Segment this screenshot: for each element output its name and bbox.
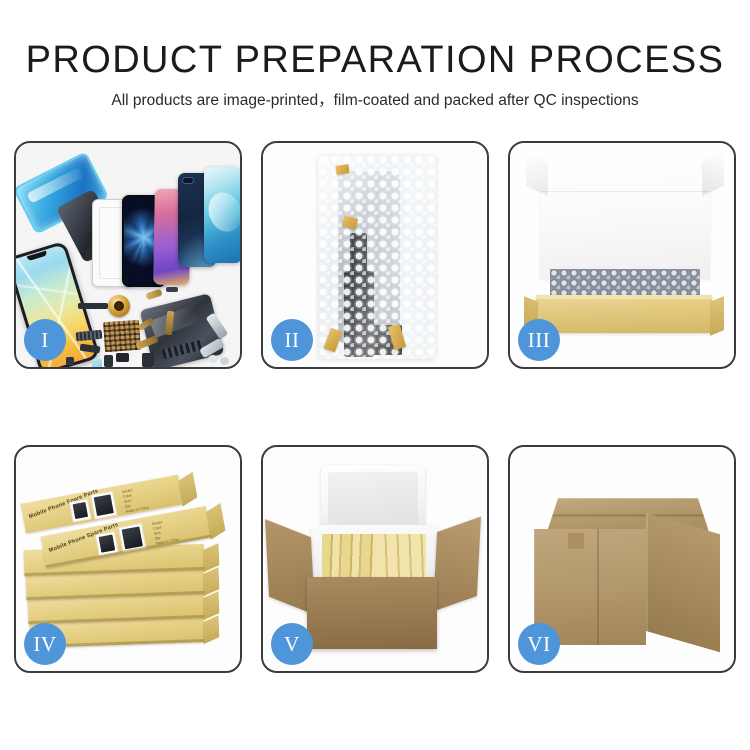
tape-strip bbox=[335, 164, 349, 175]
foam-lid-inner bbox=[328, 472, 418, 524]
box-window-graphic bbox=[69, 499, 92, 523]
step-badge-2: II bbox=[271, 319, 313, 361]
carton-front-panel bbox=[307, 577, 437, 649]
teal-gradient-phone bbox=[204, 167, 240, 263]
chip-grid-part bbox=[103, 320, 141, 352]
process-step-panel-3: III bbox=[508, 141, 736, 369]
spare-part bbox=[116, 353, 129, 362]
white-box-lid bbox=[540, 157, 710, 279]
spare-part bbox=[78, 303, 108, 309]
box-end-right bbox=[710, 296, 724, 336]
foam-cavity bbox=[322, 534, 426, 578]
spare-part bbox=[142, 353, 154, 367]
step-badge-5: V bbox=[271, 623, 313, 665]
lid-crease bbox=[540, 191, 710, 192]
carton-side-face bbox=[646, 513, 720, 652]
carton-tape-patch bbox=[570, 623, 586, 637]
header: PRODUCT PREPARATION PROCESS All products… bbox=[0, 38, 750, 112]
carton-edge-highlight bbox=[646, 513, 648, 631]
carton-tape-patch bbox=[568, 533, 584, 549]
spare-part bbox=[145, 289, 162, 301]
page-subtitle: All products are image-printed，film-coat… bbox=[0, 90, 750, 112]
spare-part bbox=[220, 357, 229, 365]
lid-flap-right bbox=[702, 152, 724, 197]
step-badge-3: III bbox=[518, 319, 560, 361]
spare-part bbox=[104, 355, 113, 367]
foam-box-lid bbox=[321, 465, 425, 529]
camera-module-icon bbox=[182, 177, 194, 184]
process-step-panel-1: I bbox=[14, 141, 242, 369]
page-title: PRODUCT PREPARATION PROCESS bbox=[0, 38, 750, 82]
process-step-panel-4: Mobile Phone Spare Parts Model: Color: S… bbox=[14, 445, 242, 673]
box-window-graphic bbox=[90, 491, 117, 520]
box-side bbox=[203, 615, 220, 644]
step-badge-6: VI bbox=[518, 623, 560, 665]
yellow-inner-box bbox=[536, 295, 712, 333]
open-carton-front bbox=[307, 577, 437, 649]
step-badge-1: I bbox=[24, 319, 66, 361]
process-step-panel-6: VI bbox=[508, 445, 736, 673]
carton-flap-line bbox=[597, 529, 599, 645]
process-step-grid: I bbox=[14, 141, 736, 675]
process-step-panel-5: V bbox=[261, 445, 489, 673]
step-badge-4: IV bbox=[24, 623, 66, 665]
sealed-carton bbox=[528, 473, 724, 651]
yellow-boxes-row bbox=[376, 534, 426, 578]
copper-coil-part bbox=[108, 295, 130, 317]
carton-seam bbox=[552, 514, 704, 516]
spare-part bbox=[66, 357, 74, 365]
product-preparation-infographic: PRODUCT PREPARATION PROCESS All products… bbox=[0, 0, 750, 750]
spare-part bbox=[208, 355, 218, 363]
spare-part bbox=[166, 287, 178, 292]
box-rim bbox=[536, 295, 712, 299]
spare-part bbox=[92, 359, 102, 367]
carton-flap-right bbox=[433, 517, 481, 612]
lid-flap-left bbox=[526, 152, 548, 197]
spare-part bbox=[76, 330, 103, 342]
process-step-panel-2: II bbox=[261, 141, 489, 369]
